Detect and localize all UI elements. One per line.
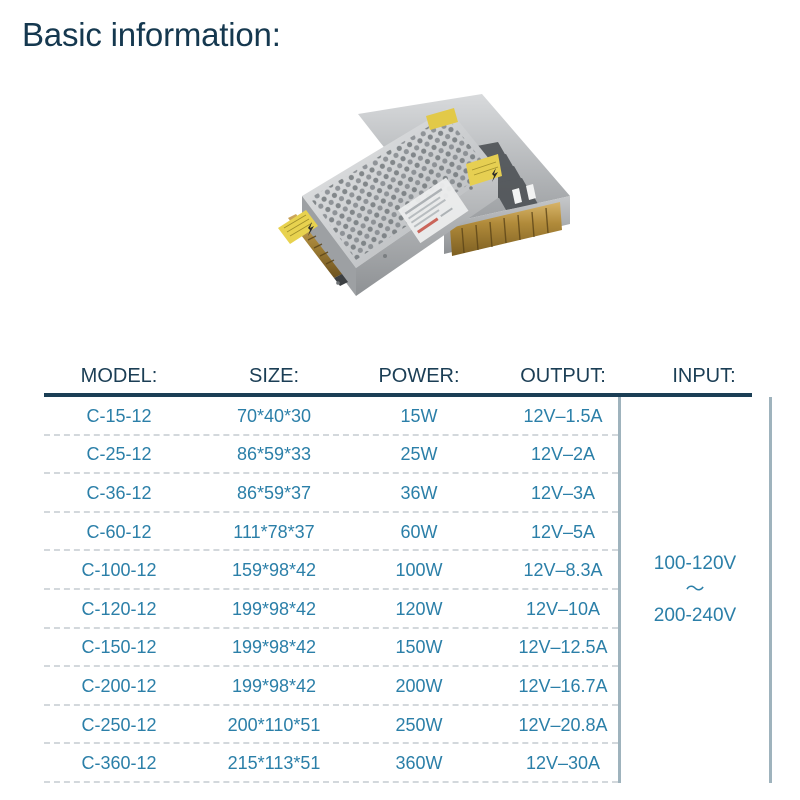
cell-size: 111*78*37 (194, 522, 354, 543)
specification-table: MODEL: SIZE: POWER: OUTPUT: INPUT: C-15-… (44, 348, 766, 783)
cell-size: 159*98*42 (194, 560, 354, 581)
cell-input-voltage-range: 100-120V ～ 200-240V (618, 397, 772, 783)
cell-size: 200*110*51 (194, 715, 354, 736)
product-photo (230, 78, 580, 328)
cell-power: 150W (354, 637, 484, 658)
cell-power: 60W (354, 522, 484, 543)
cell-model: C-25-12 (44, 444, 194, 465)
cell-model: C-36-12 (44, 483, 194, 504)
column-header-power: POWER: (354, 365, 484, 388)
cell-size: 215*113*51 (194, 753, 354, 774)
cell-model: C-250-12 (44, 715, 194, 736)
cell-size: 199*98*42 (194, 599, 354, 620)
cell-power: 360W (354, 753, 484, 774)
cell-size: 70*40*30 (194, 406, 354, 427)
cell-power: 36W (354, 483, 484, 504)
cell-model: C-120-12 (44, 599, 194, 620)
page-title: Basic information: (22, 16, 281, 54)
cell-size: 86*59*37 (194, 483, 354, 504)
input-voltage-low: 100-120V (654, 549, 736, 578)
cell-model: C-150-12 (44, 637, 194, 658)
table-header-row: MODEL: SIZE: POWER: OUTPUT: INPUT: (44, 348, 766, 388)
input-voltage-high: 200-240V (654, 601, 736, 630)
cell-model: C-200-12 (44, 676, 194, 697)
input-range-tilde: ～ (685, 579, 704, 602)
cell-model: C-100-12 (44, 560, 194, 581)
cell-power: 15W (354, 406, 484, 427)
cell-size: 199*98*42 (194, 637, 354, 658)
column-header-size: SIZE: (194, 365, 354, 388)
cell-size: 199*98*42 (194, 676, 354, 697)
column-header-model: MODEL: (44, 365, 194, 388)
column-header-input: INPUT: (642, 365, 766, 388)
cell-power: 100W (354, 560, 484, 581)
cell-power: 120W (354, 599, 484, 620)
cell-model: C-60-12 (44, 522, 194, 543)
column-header-output: OUTPUT: (484, 365, 642, 388)
cell-power: 25W (354, 444, 484, 465)
cell-size: 86*59*33 (194, 444, 354, 465)
cell-model: C-360-12 (44, 753, 194, 774)
cell-power: 250W (354, 715, 484, 736)
cell-power: 200W (354, 676, 484, 697)
cell-model: C-15-12 (44, 406, 194, 427)
table-body: C-15-12 70*40*30 15W 12V–1.5A C-25-12 86… (44, 397, 766, 783)
